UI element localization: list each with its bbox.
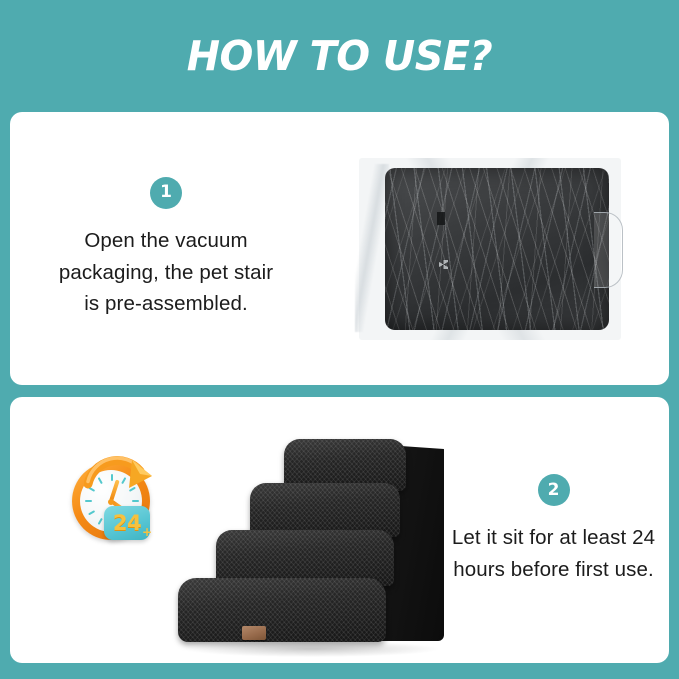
vacuum-package-photo (359, 158, 621, 340)
step-1-caption: Open the vacuum packaging, the pet stair… (50, 225, 282, 320)
step-2-text-block: 2 Let it sit for at least 24 hours befor… (444, 474, 669, 586)
step-card-1: 1 Open the vacuum packaging, the pet sta… (10, 112, 669, 385)
step-1-image (310, 112, 669, 385)
step-1-text-block: 1 Open the vacuum packaging, the pet sta… (10, 177, 310, 320)
24-hour-clock-icon: 24 + (66, 452, 178, 564)
refresh-arrow-icon (84, 454, 158, 514)
care-label-icon (437, 212, 445, 225)
step-card-2: 24 + 2 Let it sit for at least 24 hours (10, 397, 669, 663)
product-shadow (186, 641, 438, 657)
step-badge-2: 2 (538, 474, 570, 506)
step-badge-1: 1 (150, 177, 182, 209)
step-2-image (176, 397, 444, 663)
bag-seal-edge (594, 212, 623, 288)
pet-stairs-photo (176, 435, 444, 649)
compressed-foam-block (385, 168, 609, 330)
brand-tag (242, 626, 266, 640)
stair-step (250, 483, 400, 537)
page-title: HOW TO USE? (187, 36, 492, 77)
steps-container: 1 Open the vacuum packaging, the pet sta… (10, 112, 669, 663)
step-2-caption: Let it sit for at least 24 hours before … (444, 522, 663, 586)
24-hours-badge: 24 + (104, 506, 150, 540)
stair-step (178, 578, 386, 642)
header: HOW TO USE? (0, 0, 679, 112)
badge-plus-sign: + (142, 525, 152, 539)
how-to-use-infographic: HOW TO USE? 1 Open the vacuum packaging,… (0, 0, 679, 679)
badge-24-number: 24 (113, 513, 141, 534)
clock-tick (98, 518, 103, 525)
